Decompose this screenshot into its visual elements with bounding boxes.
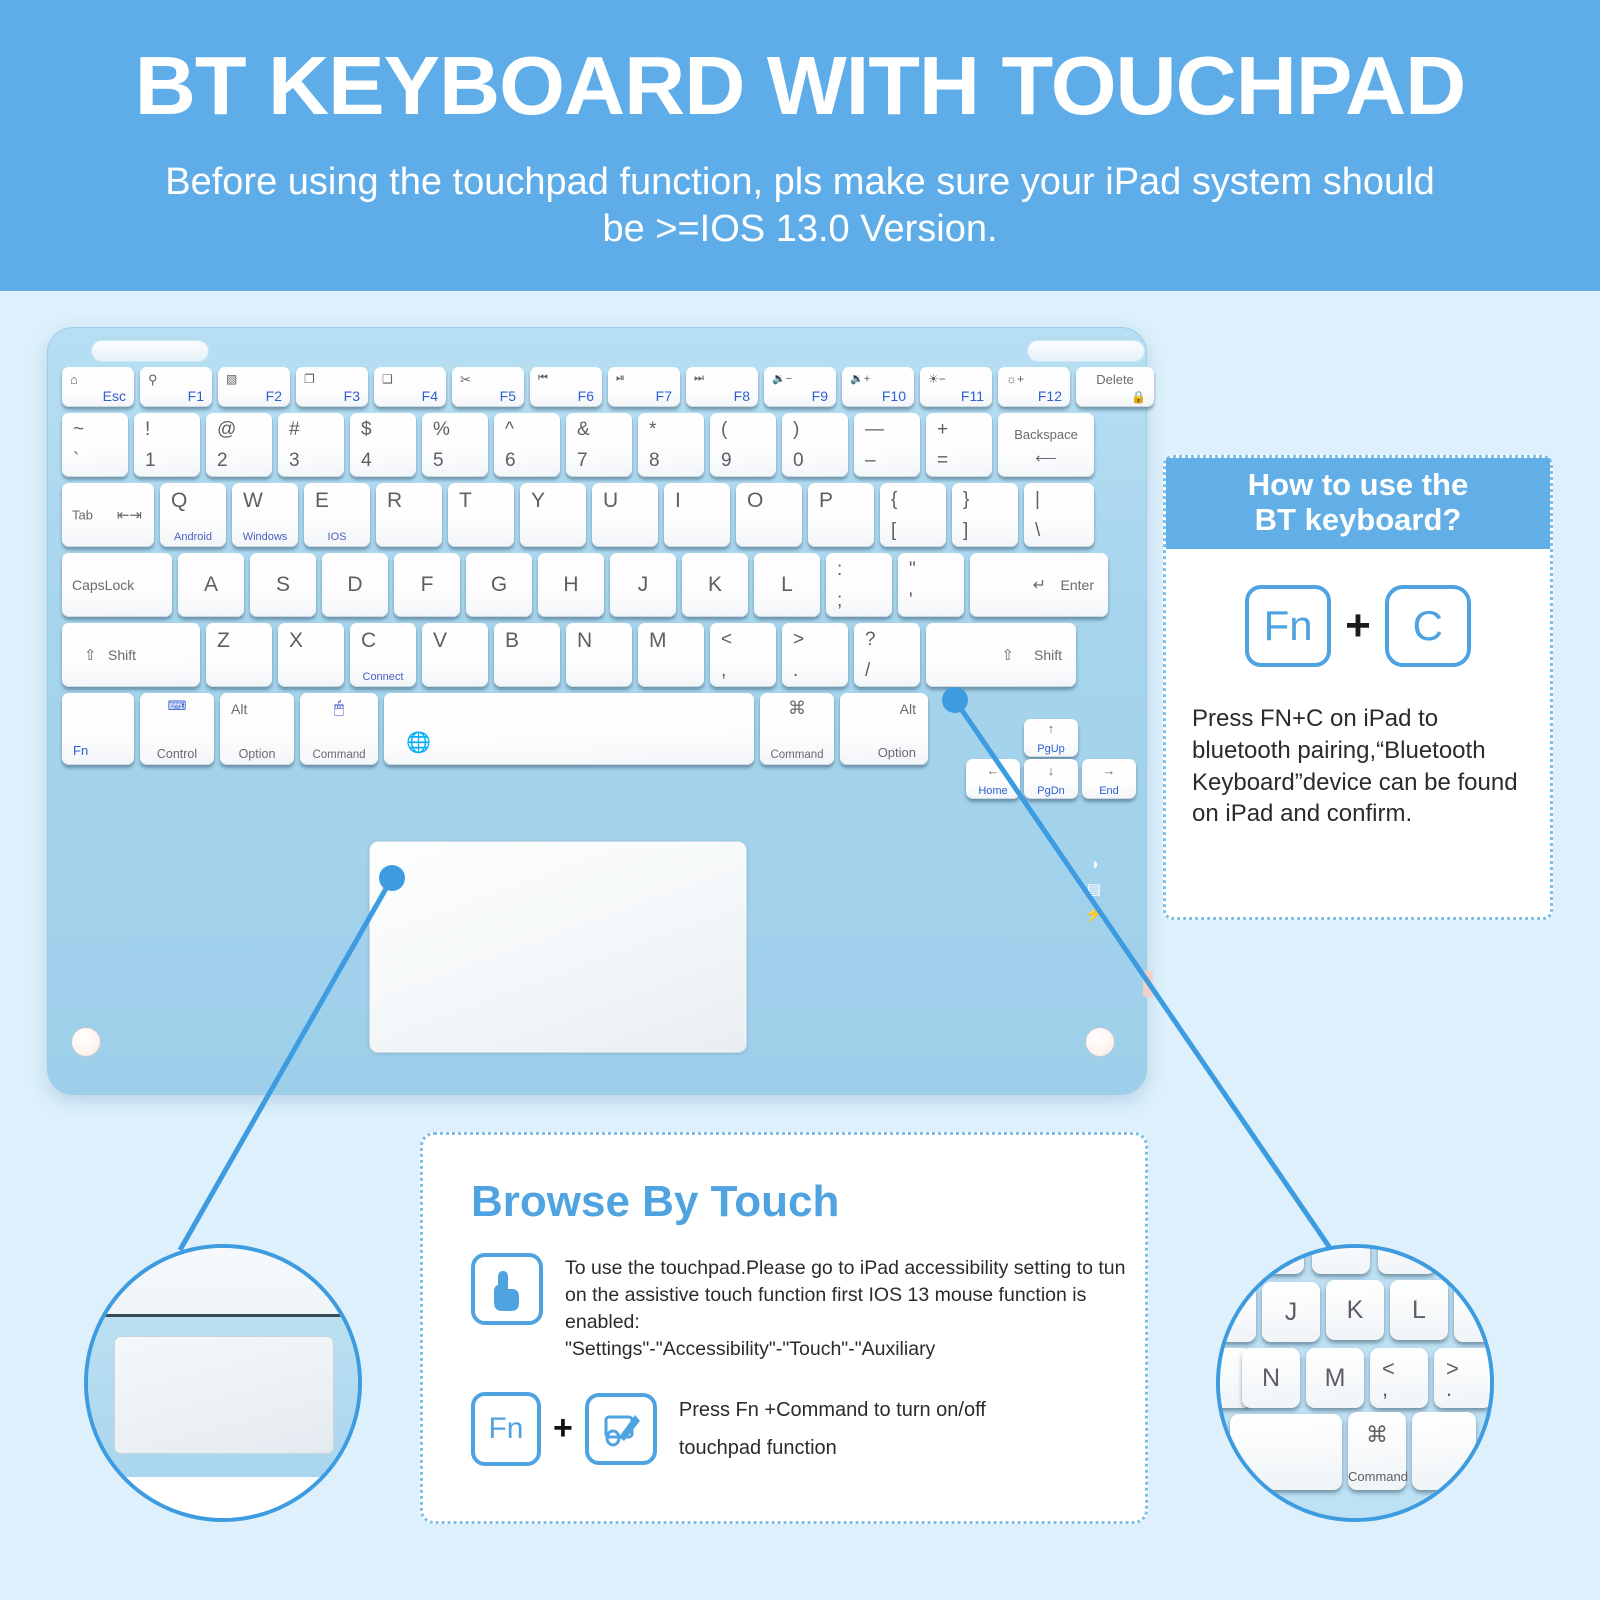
key-quote[interactable]: " ' xyxy=(898,553,964,617)
key-legend-lower: 8 xyxy=(649,450,660,472)
touchpad-toggle-icon: 🖱 xyxy=(300,698,378,718)
key-bracket-right[interactable]: } ] xyxy=(952,483,1018,547)
key-letter: U xyxy=(603,489,618,513)
scissors-icon: ✂ xyxy=(460,372,471,388)
key-u[interactable]: U xyxy=(592,483,658,547)
key-zoom-partial-a xyxy=(1248,1244,1304,1274)
key-legend-lower: ' xyxy=(909,590,913,612)
key-legend-lower: 7 xyxy=(577,450,588,472)
key-legend-upper: : xyxy=(837,559,842,581)
key-0[interactable]: ) 0 xyxy=(782,413,848,477)
shortcut-key-c: C xyxy=(1385,585,1471,667)
keyboard-row-qwerty: Tab ⇤⇥ Q Android W Windows E IOS R T xyxy=(62,483,1132,547)
key-t[interactable]: T xyxy=(448,483,514,547)
key-spacebar[interactable]: 🌐 xyxy=(384,693,754,765)
key-comma[interactable]: < , xyxy=(710,623,776,687)
key-letter: T xyxy=(459,489,472,513)
key-command-right[interactable]: ⌘ Command xyxy=(760,693,834,765)
key-x[interactable]: X xyxy=(278,623,344,687)
key-shift-right[interactable]: ⇧ Shift xyxy=(926,623,1076,687)
key-backslash[interactable]: | \ xyxy=(1024,483,1094,547)
shortcut-key-fn: Fn xyxy=(1245,585,1331,667)
key-letter: M xyxy=(649,629,667,653)
key-legend-lower: 0 xyxy=(793,450,804,472)
key-legend-lower: [ xyxy=(891,520,896,542)
search-icon: ⚲ xyxy=(148,372,158,388)
key-zoom-semicolon xyxy=(1454,1282,1494,1342)
key-4[interactable]: $ 4 xyxy=(350,413,416,477)
key-letter: Y xyxy=(531,489,545,513)
key-b[interactable]: B xyxy=(494,623,560,687)
key-shift-left[interactable]: ⇧ Shift xyxy=(62,623,200,687)
key-legend-upper: | xyxy=(1035,489,1040,511)
key-letter: I xyxy=(675,489,681,513)
home-icon: ⌂ xyxy=(70,372,78,387)
key-delete-label: Delete xyxy=(1076,372,1154,387)
browse-item-2-line1: Press Fn +Command to turn on/off xyxy=(679,1391,986,1429)
key-k[interactable]: K xyxy=(682,553,748,617)
key-equals[interactable]: + = xyxy=(926,413,992,477)
arrow-left-icon: ← xyxy=(966,763,1020,778)
key-legend-upper: # xyxy=(289,419,300,441)
browse-by-touch-panel: Browse By Touch To use the touchpad.Plea… xyxy=(420,1132,1148,1524)
keyboard-row-home: CapsLock A S D F G H J K xyxy=(62,553,1132,617)
lock-icon: 🔒 xyxy=(1131,390,1146,404)
key-a[interactable]: A xyxy=(178,553,244,617)
key-letter: L xyxy=(1390,1280,1448,1340)
key-f3[interactable]: ❐ F3 xyxy=(296,367,368,407)
shift-arrow-icon: ⇧ xyxy=(1001,646,1014,664)
key-q[interactable]: Q Android xyxy=(160,483,226,547)
key-f8-label: F8 xyxy=(734,388,750,404)
key-sub-ios: IOS xyxy=(304,531,370,543)
command-symbol-icon: ⌘ xyxy=(760,698,834,719)
arrow-up-icon: ↑ xyxy=(1024,721,1078,736)
key-legend-upper: " xyxy=(909,559,916,581)
key-option-right[interactable]: Alt Option xyxy=(840,693,928,765)
key-2[interactable]: @ 2 xyxy=(206,413,272,477)
keyboard-hinge-pad-left xyxy=(91,340,209,362)
browse-item-1: To use the touchpad.Please go to iPad ac… xyxy=(471,1253,1145,1363)
key-pgup-label: PgUp xyxy=(1024,743,1078,755)
key-letter: Q xyxy=(171,489,187,513)
key-letter: J xyxy=(1262,1282,1320,1342)
magnifier-touchpad xyxy=(84,1244,362,1522)
key-zoom-n[interactable]: N xyxy=(1242,1348,1300,1408)
key-f12[interactable]: ☼+ F12 xyxy=(998,367,1070,407)
key-f7[interactable]: ⏯ F7 xyxy=(608,367,680,407)
command-symbol-icon: ⌘ xyxy=(1348,1422,1406,1448)
shift-arrow-icon: ⇧ xyxy=(84,646,97,664)
key-control-label: Control xyxy=(140,747,214,761)
key-i[interactable]: I xyxy=(664,483,730,547)
magnifier-touchpad-content xyxy=(88,1248,358,1518)
key-letter: N xyxy=(577,629,592,653)
key-f9[interactable]: 🔉− F9 xyxy=(764,367,836,407)
volume-up-icon: 🔉+ xyxy=(850,372,870,385)
key-w[interactable]: W Windows xyxy=(232,483,298,547)
key-5[interactable]: % 5 xyxy=(422,413,488,477)
key-zoom-spacebar[interactable] xyxy=(1230,1414,1342,1490)
key-command-label: Command xyxy=(760,749,834,761)
key-f10[interactable]: 🔉+ F10 xyxy=(842,367,914,407)
key-letter: G xyxy=(466,553,532,617)
key-letter: Z xyxy=(217,629,230,653)
key-legend-upper: ( xyxy=(721,419,727,441)
key-shift-label: Shift xyxy=(1034,647,1062,663)
key-f2-label: F2 xyxy=(266,388,282,404)
key-c[interactable]: C Connect xyxy=(350,623,416,687)
key-p[interactable]: P xyxy=(808,483,874,547)
key-letter: E xyxy=(315,489,329,513)
key-f1-label: F1 xyxy=(188,388,204,404)
key-zoom-j[interactable]: J xyxy=(1262,1282,1320,1342)
key-fn-label: Fn xyxy=(73,743,88,758)
key-f2[interactable]: ▧ F2 xyxy=(218,367,290,407)
caps-lock-indicator: ▤ xyxy=(1079,882,1109,897)
key-f6-label: F6 xyxy=(578,388,594,404)
touch-finger-glyph xyxy=(487,1266,527,1312)
key-f[interactable]: F xyxy=(394,553,460,617)
key-letter: F xyxy=(394,553,460,617)
surface-below xyxy=(84,1477,362,1522)
key-backspace[interactable]: Backspace ⟵ xyxy=(998,413,1094,477)
next-track-icon: ⏭ xyxy=(694,372,704,385)
shortcut-key-fn: Fn xyxy=(471,1392,541,1466)
plus-sign: + xyxy=(553,1409,573,1448)
key-legend-upper: ^ xyxy=(505,419,514,441)
touchpad-toggle-glyph xyxy=(599,1407,643,1451)
key-arrow-right[interactable]: → End xyxy=(1082,759,1136,799)
key-letter: S xyxy=(250,553,316,617)
key-control[interactable]: ⌨ Control xyxy=(140,693,214,765)
key-command-left[interactable]: 🖱 Command xyxy=(300,693,378,765)
plus-sign: + xyxy=(1345,601,1371,651)
caps-lock-icon: ▤ xyxy=(1079,882,1109,897)
key-legend-lower: ] xyxy=(963,520,968,542)
touchpad-zoomed xyxy=(114,1336,334,1454)
key-letter: R xyxy=(387,489,402,513)
key-legend-upper: < xyxy=(721,629,732,651)
key-legend-lower: – xyxy=(865,450,876,472)
key-backtick[interactable]: ~ ` xyxy=(62,413,128,477)
key-f5-label: F5 xyxy=(500,388,516,404)
key-f6[interactable]: ⏮ F6 xyxy=(530,367,602,407)
key-capslock-label: CapsLock xyxy=(72,577,134,593)
charging-bolt-icon: ⚡ xyxy=(1079,907,1109,922)
key-letter: N xyxy=(1242,1348,1300,1408)
status-indicators: ◑ ▤ ⚡ xyxy=(1079,857,1109,932)
key-o[interactable]: O xyxy=(736,483,802,547)
keyboard-row-bottom-letters: ⇧ Shift Z X C Connect V B N M xyxy=(62,623,1132,687)
key-sub-connect: Connect xyxy=(350,671,416,683)
key-enter-label: Enter xyxy=(1061,577,1094,593)
key-h[interactable]: H xyxy=(538,553,604,617)
keyboard-icon: ⌨ xyxy=(140,698,214,714)
key-home-label: Home xyxy=(966,785,1020,797)
magnifier-keys-content: J K L N M < , > . ⌘ Command xyxy=(1220,1248,1490,1518)
bt-heading-line1: How to use the xyxy=(1166,468,1550,503)
key-letter: M xyxy=(1306,1348,1364,1408)
key-l[interactable]: L xyxy=(754,553,820,617)
key-sub-android: Android xyxy=(160,531,226,543)
bt-keyboard-howto-panel: How to use the BT keyboard? Fn + C Press… xyxy=(1163,455,1553,920)
key-letter: V xyxy=(433,629,447,653)
browse-item-2: Fn + Press Fn +Command to turn on/off to… xyxy=(471,1391,1145,1467)
key-letter: P xyxy=(819,489,833,513)
key-9[interactable]: ( 9 xyxy=(710,413,776,477)
charging-indicator: ⚡ xyxy=(1079,907,1109,922)
key-zoom-partial-b xyxy=(1312,1244,1370,1274)
key-legend-upper: ! xyxy=(145,419,150,441)
key-letter: A xyxy=(178,553,244,617)
key-letter: L xyxy=(754,553,820,617)
key-s[interactable]: S xyxy=(250,553,316,617)
key-option-label: Option xyxy=(220,747,294,761)
key-1[interactable]: ! 1 xyxy=(134,413,200,477)
key-letter: C xyxy=(361,629,376,653)
keyboard-keys: ⌂ Esc ⚲ F1 ▧ F2 ❐ F3 ❑ F4 ✂ F5 xyxy=(62,367,1132,771)
key-f9-label: F9 xyxy=(812,388,828,404)
previous-track-icon: ⏮ xyxy=(538,372,548,385)
key-legend-upper: + xyxy=(937,419,948,441)
key-legend-lower: \ xyxy=(1035,520,1040,542)
key-legend-lower: , xyxy=(1382,1376,1388,1402)
key-letter: K xyxy=(682,553,748,617)
key-y[interactable]: Y xyxy=(520,483,586,547)
key-zoom-k[interactable]: K xyxy=(1326,1280,1384,1340)
key-legend-lower: ; xyxy=(837,590,842,612)
key-fn[interactable]: Fn xyxy=(62,693,134,765)
key-arrow-down[interactable]: ↓ PgDn xyxy=(1024,759,1078,799)
bluetooth-signal-indicator: ◑ xyxy=(1079,857,1109,872)
key-semicolon[interactable]: : ; xyxy=(826,553,892,617)
brightness-down-icon: ☀− xyxy=(928,372,946,386)
key-alt-label: Alt xyxy=(900,701,916,717)
key-command-label: Command xyxy=(1348,1469,1406,1484)
key-shift-label: Shift xyxy=(108,647,136,663)
key-3[interactable]: # 3 xyxy=(278,413,344,477)
key-legend-upper: * xyxy=(649,419,656,441)
key-zoom-partial-c xyxy=(1378,1244,1436,1274)
key-g[interactable]: G xyxy=(466,553,532,617)
key-legend-upper: { xyxy=(891,489,897,511)
bt-shortcut-combo: Fn + C xyxy=(1166,585,1550,667)
key-f10-label: F10 xyxy=(882,388,906,404)
key-legend-lower: 9 xyxy=(721,450,732,472)
key-6[interactable]: ^ 6 xyxy=(494,413,560,477)
globe-icon: 🌐 xyxy=(406,730,431,755)
key-letter: K xyxy=(1326,1280,1384,1340)
bt-heading-line2: BT keyboard? xyxy=(1166,503,1550,538)
key-end-label: End xyxy=(1082,785,1136,797)
screenshot-icon: ❑ xyxy=(382,372,393,386)
key-capslock[interactable]: CapsLock xyxy=(62,553,172,617)
key-esc[interactable]: ⌂ Esc xyxy=(62,367,134,407)
key-letter: X xyxy=(289,629,303,653)
key-sub-windows: Windows xyxy=(232,531,298,543)
app-switcher-icon: ❐ xyxy=(304,372,315,386)
page-title: BT KEYBOARD WITH TOUCHPAD xyxy=(0,0,1600,127)
key-pgdn-label: PgDn xyxy=(1024,785,1078,797)
key-legend-lower: 1 xyxy=(145,450,156,472)
keyboard-row-function: ⌂ Esc ⚲ F1 ▧ F2 ❐ F3 ❑ F4 ✂ F5 xyxy=(62,367,1132,407)
browse-panel-title: Browse By Touch xyxy=(471,1177,1145,1227)
key-legend-lower: , xyxy=(721,660,726,682)
key-legend-lower: 5 xyxy=(433,450,444,472)
keyboard-image: ⌂ Esc ⚲ F1 ▧ F2 ❐ F3 ❑ F4 ✂ F5 xyxy=(47,327,1147,1095)
brightness-up-icon: ☼+ xyxy=(1006,372,1024,386)
key-legend-upper: > xyxy=(793,629,804,651)
key-legend-upper: ) xyxy=(793,419,799,441)
key-legend-upper: } xyxy=(963,489,969,511)
key-v[interactable]: V xyxy=(422,623,488,687)
arrow-key-cluster: ↑ PgUp ← Home ↓ PgDn → End xyxy=(962,719,1132,801)
page-subtitle: Before using the touchpad function, pls … xyxy=(0,159,1600,252)
key-legend-lower: 4 xyxy=(361,450,372,472)
key-d[interactable]: D xyxy=(322,553,388,617)
key-legend-lower: ` xyxy=(73,450,79,472)
key-arrow-up[interactable]: ↑ PgUp xyxy=(1024,719,1078,757)
key-command-label: Command xyxy=(300,749,378,761)
key-legend-lower: . xyxy=(1446,1376,1452,1402)
keyboard-foot-left xyxy=(71,1027,101,1057)
keyboard-surface-top xyxy=(84,1244,362,1316)
key-legend-upper: $ xyxy=(361,419,372,441)
header-banner: BT KEYBOARD WITH TOUCHPAD Before using t… xyxy=(0,0,1600,291)
key-letter: O xyxy=(747,489,763,513)
touchpad-toggle-icon xyxy=(585,1393,657,1465)
magnifier-keys: J K L N M < , > . ⌘ Command xyxy=(1216,1244,1494,1522)
key-esc-label: Esc xyxy=(103,388,126,404)
key-f8[interactable]: ⏭ F8 xyxy=(686,367,758,407)
key-f5[interactable]: ✂ F5 xyxy=(452,367,524,407)
browse-item-1-text: To use the touchpad.Please go to iPad ac… xyxy=(565,1253,1145,1363)
keyboard-brightness-icon: ▧ xyxy=(226,372,237,386)
arrow-down-icon: ↓ xyxy=(1024,763,1078,778)
key-e[interactable]: E IOS xyxy=(304,483,370,547)
key-letter: W xyxy=(243,489,263,513)
key-7[interactable]: & 7 xyxy=(566,413,632,477)
key-option-left[interactable]: Alt Option xyxy=(220,693,294,765)
key-legend-lower: 3 xyxy=(289,450,300,472)
keyboard-row-numbers: ~ ` ! 1 @ 2 # 3 $ 4 % 5 xyxy=(62,413,1132,477)
arrow-right-icon: → xyxy=(1082,763,1136,778)
key-zoom-command[interactable]: ⌘ Command xyxy=(1348,1412,1406,1490)
key-option-label: Option xyxy=(878,745,916,760)
key-tab-label: Tab xyxy=(72,508,93,523)
key-f1[interactable]: ⚲ F1 xyxy=(140,367,212,407)
key-legend-upper: ~ xyxy=(73,419,84,441)
key-legend-lower: / xyxy=(865,660,870,682)
key-letter: H xyxy=(538,553,604,617)
bt-panel-body-text: Press FN+C on iPad to bluetooth pairing,… xyxy=(1192,703,1524,830)
key-period[interactable]: > . xyxy=(782,623,848,687)
key-legend-upper: @ xyxy=(217,419,236,441)
keyboard-hinge-pad-right xyxy=(1027,340,1145,362)
key-minus[interactable]: — – xyxy=(854,413,920,477)
key-delete[interactable]: Delete 🔒 xyxy=(1076,367,1154,407)
key-letter: J xyxy=(610,553,676,617)
key-f3-label: F3 xyxy=(344,388,360,404)
key-zoom-l[interactable]: L xyxy=(1390,1280,1448,1340)
key-zoom-option xyxy=(1412,1412,1476,1490)
key-j[interactable]: J xyxy=(610,553,676,617)
key-legend-upper: ? xyxy=(865,629,876,651)
key-enter[interactable]: Enter ↵ xyxy=(970,553,1108,617)
browse-item-2-text: Press Fn +Command to turn on/off touchpa… xyxy=(679,1391,986,1467)
key-n[interactable]: N xyxy=(566,623,632,687)
key-f12-label: F12 xyxy=(1038,388,1062,404)
backspace-arrow-icon: ⟵ xyxy=(998,449,1094,467)
key-arrow-left[interactable]: ← Home xyxy=(966,759,1020,799)
key-legend-lower: . xyxy=(793,660,798,682)
keyboard-foot-right xyxy=(1085,1027,1115,1057)
key-legend-lower: = xyxy=(937,450,948,472)
key-f11[interactable]: ☀− F11 xyxy=(920,367,992,407)
bluetooth-signal-icon: ◑ xyxy=(1079,857,1109,872)
key-alt-label: Alt xyxy=(231,701,247,717)
key-slash[interactable]: ? / xyxy=(854,623,920,687)
key-legend-lower: 2 xyxy=(217,450,228,472)
tab-arrows-icon: ⇤⇥ xyxy=(117,506,142,524)
key-legend-upper: % xyxy=(433,419,450,441)
key-backspace-label: Backspace xyxy=(998,427,1094,442)
key-zoom-m[interactable]: M xyxy=(1306,1348,1364,1408)
enter-arrow-icon: ↵ xyxy=(1033,575,1046,595)
key-m[interactable]: M xyxy=(638,623,704,687)
key-letter: B xyxy=(505,629,519,653)
key-legend-upper: & xyxy=(577,419,590,441)
key-z[interactable]: Z xyxy=(206,623,272,687)
key-letter: D xyxy=(322,553,388,617)
touch-finger-icon xyxy=(471,1253,543,1325)
play-pause-icon: ⏯ xyxy=(616,372,625,385)
volume-down-icon: 🔉− xyxy=(772,372,792,385)
key-zoom-comma[interactable]: < , xyxy=(1370,1348,1428,1408)
bt-panel-heading: How to use the BT keyboard? xyxy=(1166,458,1550,549)
browse-item-2-line2: touchpad function xyxy=(679,1429,986,1467)
key-f11-label: F11 xyxy=(961,388,984,404)
key-zoom-period[interactable]: > . xyxy=(1434,1348,1492,1408)
key-8[interactable]: * 8 xyxy=(638,413,704,477)
key-f4[interactable]: ❑ F4 xyxy=(374,367,446,407)
key-legend-upper: — xyxy=(865,419,884,441)
key-bracket-left[interactable]: { [ xyxy=(880,483,946,547)
touchpad[interactable] xyxy=(369,841,747,1053)
key-tab[interactable]: Tab ⇤⇥ xyxy=(62,483,154,547)
key-f7-label: F7 xyxy=(656,388,672,404)
keyboard-side-port xyxy=(1143,971,1153,997)
key-zoom-h xyxy=(1216,1284,1256,1342)
key-r[interactable]: R xyxy=(376,483,442,547)
key-f4-label: F4 xyxy=(422,388,438,404)
key-legend-lower: 6 xyxy=(505,450,516,472)
